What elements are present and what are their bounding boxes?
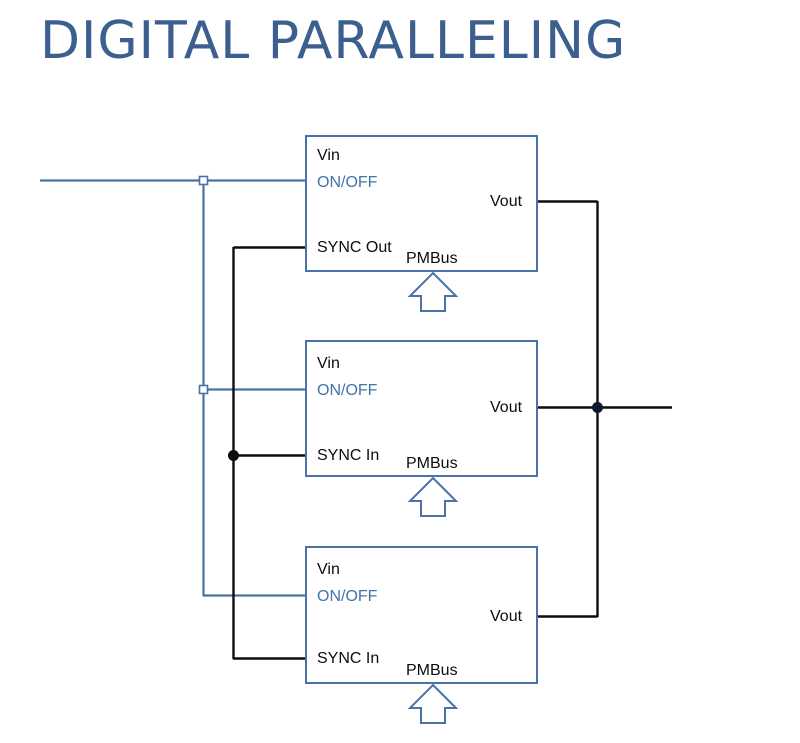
- arrow-up-icon[interactable]: [410, 273, 456, 311]
- block2-pin-onoff: ON/OFF: [317, 382, 377, 400]
- junction-square-icon: [200, 177, 208, 185]
- block2-pin-sync-in: SYNC In: [317, 447, 379, 465]
- block3-pin-sync-in: SYNC In: [317, 650, 379, 668]
- block3-pin-vin: Vin: [317, 561, 340, 579]
- block1-pin-onoff: ON/OFF: [317, 174, 377, 192]
- block2-pin-vin: Vin: [317, 355, 340, 373]
- block1-pin-vout: Vout: [490, 193, 522, 211]
- block3-pin-vout: Vout: [490, 608, 522, 626]
- block3-pin-onoff: ON/OFF: [317, 588, 377, 606]
- arrow-up-icon[interactable]: [410, 478, 456, 516]
- block1-pin-vin: Vin: [317, 147, 340, 165]
- block2-pmbus-label: PMBus: [406, 455, 458, 473]
- block2-pin-vout: Vout: [490, 399, 522, 417]
- block1-pin-sync-out: SYNC Out: [317, 239, 392, 257]
- slide-canvas: DIGITAL PARALLELING: [0, 0, 800, 743]
- block3-pmbus-label: PMBus: [406, 662, 458, 680]
- arrow-up-icon[interactable]: [410, 685, 456, 723]
- vout-bus-net: [538, 201, 672, 617]
- junction-dot-icon: [228, 450, 239, 461]
- junction-square-icon: [200, 386, 208, 394]
- junction-dot-icon: [592, 402, 603, 413]
- sync-bus-net: [228, 247, 305, 659]
- onoff-bus-net: [40, 177, 305, 597]
- block1-pmbus-label: PMBus: [406, 250, 458, 268]
